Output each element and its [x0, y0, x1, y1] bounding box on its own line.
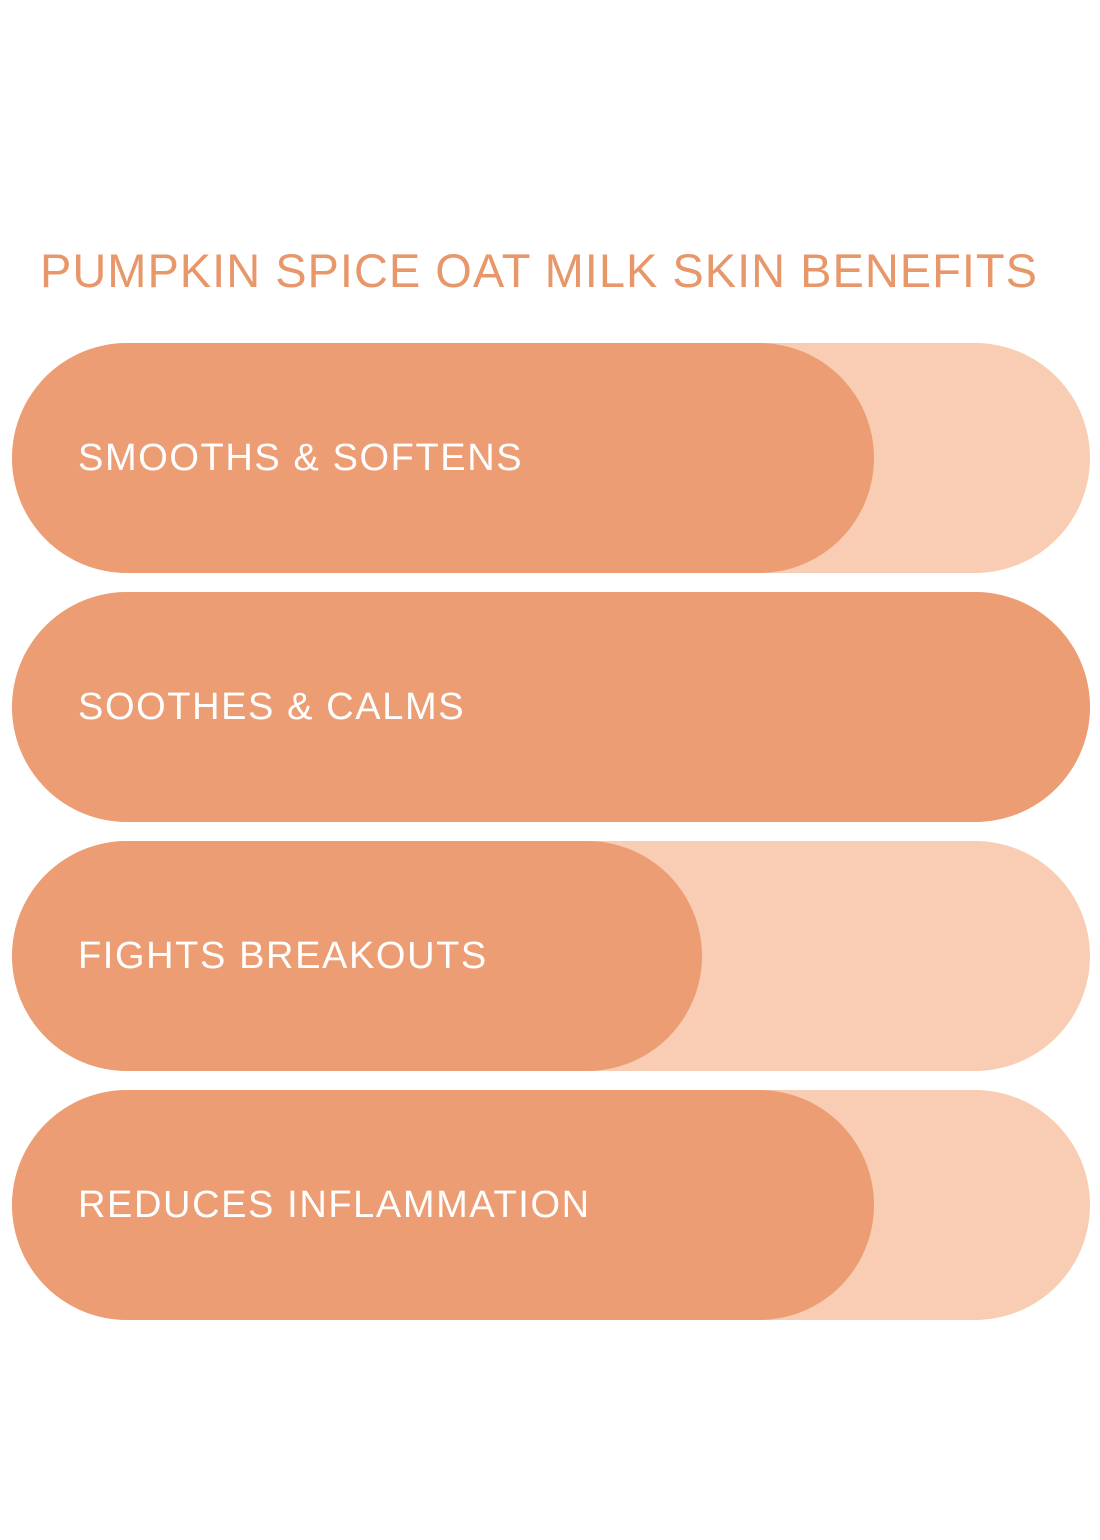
bar-label: FIGHTS BREAKOUTS — [78, 841, 488, 1071]
bar-row-smooths-softens[interactable]: SMOOTHS & SOFTENS — [12, 343, 1090, 573]
bar-row-fights-breakouts[interactable]: FIGHTS BREAKOUTS — [12, 841, 1090, 1071]
benefit-bar-chart: SMOOTHS & SOFTENS SOOTHES & CALMS FIGHTS… — [0, 343, 1100, 1303]
page-title: PUMPKIN SPICE OAT MILK SKIN BENEFITS — [40, 243, 1090, 299]
bar-label: SMOOTHS & SOFTENS — [78, 343, 523, 573]
bar-row-reduces-inflammation[interactable]: REDUCES INFLAMMATION — [12, 1090, 1090, 1320]
bar-label: REDUCES INFLAMMATION — [78, 1090, 591, 1320]
infographic-canvas: PUMPKIN SPICE OAT MILK SKIN BENEFITS SMO… — [0, 0, 1100, 1540]
bar-label: SOOTHES & CALMS — [78, 592, 465, 822]
bar-row-soothes-calms[interactable]: SOOTHES & CALMS — [12, 592, 1090, 822]
